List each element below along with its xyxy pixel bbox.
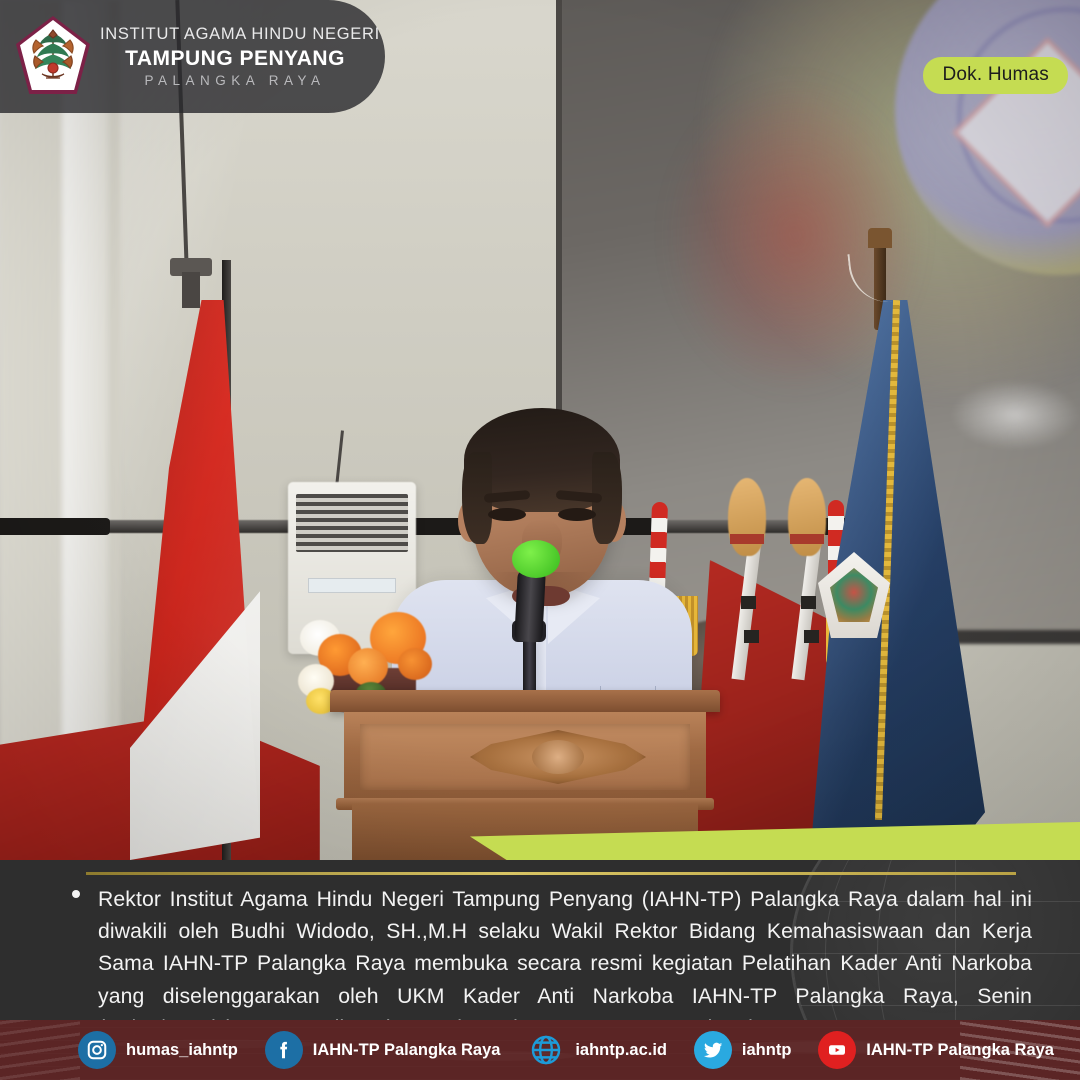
social-footer: humas_iahntp IAHN-TP Palangka Raya: [0, 1020, 1080, 1080]
photo-vignette: [0, 0, 1080, 860]
caption-gold-rule: [86, 872, 1016, 875]
institution-header: INSTITUT AGAMA HINDU NEGERI TAMPUNG PENY…: [0, 0, 385, 113]
green-accent-band: [470, 822, 1080, 860]
social-website[interactable]: iahntp.ac.id: [527, 1031, 667, 1069]
youtube-icon[interactable]: [818, 1031, 856, 1069]
social-youtube[interactable]: IAHN-TP Palangka Raya: [818, 1031, 1054, 1069]
website-globe-icon[interactable]: [527, 1031, 565, 1069]
caption-bullet: [72, 890, 80, 898]
facebook-icon[interactable]: [265, 1031, 303, 1069]
institution-line2: TAMPUNG PENYANG: [100, 45, 370, 72]
institution-header-text: INSTITUT AGAMA HINDU NEGERI TAMPUNG PENY…: [100, 24, 370, 91]
twitter-handle: iahntp: [742, 1041, 792, 1060]
instagram-icon[interactable]: [78, 1031, 116, 1069]
instagram-handle: humas_iahntp: [126, 1041, 238, 1060]
poster: INSTITUT AGAMA HINDU NEGERI TAMPUNG PENY…: [0, 0, 1080, 1080]
social-instagram[interactable]: humas_iahntp: [78, 1031, 238, 1069]
institution-line1: INSTITUT AGAMA HINDU NEGERI: [100, 24, 370, 45]
green-accent-band-fill: [470, 822, 1080, 860]
institution-logo: [16, 16, 90, 94]
event-photo: [0, 0, 1080, 860]
social-facebook[interactable]: IAHN-TP Palangka Raya: [265, 1031, 501, 1069]
website-handle: iahntp.ac.id: [575, 1041, 667, 1060]
logo-emblem-icon: [28, 26, 78, 84]
facebook-handle: IAHN-TP Palangka Raya: [313, 1041, 501, 1060]
institution-line3: PALANGKA RAYA: [100, 72, 370, 91]
youtube-handle: IAHN-TP Palangka Raya: [866, 1041, 1054, 1060]
dok-humas-badge: Dok. Humas: [923, 57, 1068, 94]
social-twitter[interactable]: iahntp: [694, 1031, 792, 1069]
twitter-icon[interactable]: [694, 1031, 732, 1069]
